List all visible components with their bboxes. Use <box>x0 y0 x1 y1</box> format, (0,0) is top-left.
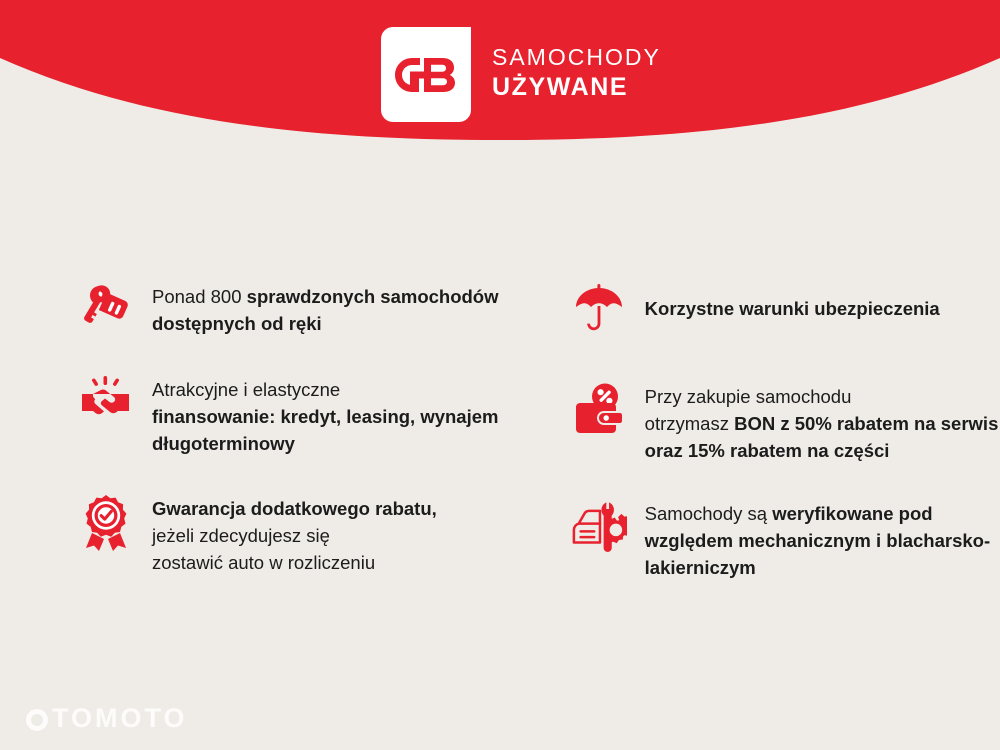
brand-wordmark: SAMOCHODY UŻYWANE <box>492 46 661 104</box>
feature-text-insurance: Korzystne warunki ubezpieczenia <box>645 281 940 322</box>
feature-text-verified-cars: Samochody są weryfikowane pod względem m… <box>645 498 1000 581</box>
otomoto-watermark: TOMOTO <box>26 703 188 734</box>
otomoto-watermark-text: TOMOTO <box>52 703 188 734</box>
car-wrench-icon <box>571 498 627 556</box>
feature-item-verified-cars: Samochody są weryfikowane pod względem m… <box>571 498 1000 581</box>
brand-line-samochody: SAMOCHODY <box>492 46 661 69</box>
features-column-right: Korzystne warunki ubezpieczenia Przy z <box>38 255 1000 581</box>
otomoto-o-ring-icon <box>26 709 48 731</box>
features-grid: Ponad 800 sprawdzonych samochodów dostęp… <box>0 255 1000 581</box>
gb-logo-icon <box>395 58 457 92</box>
brand-lockup: SAMOCHODY UŻYWANE <box>381 27 661 122</box>
feature-text-service-voucher: Przy zakupie samochoduotrzymasz BON z 50… <box>645 381 1000 464</box>
header-banner: SAMOCHODY UŻYWANE <box>0 0 1000 150</box>
brand-line-uzywane: UŻYWANE <box>492 75 661 100</box>
feature-item-service-voucher: Przy zakupie samochoduotrzymasz BON z 50… <box>571 381 1000 464</box>
feature-item-insurance: Korzystne warunki ubezpieczenia <box>571 281 1000 339</box>
umbrella-icon <box>571 281 627 339</box>
gb-logo-tile <box>381 27 471 122</box>
wallet-percent-icon <box>571 381 627 439</box>
